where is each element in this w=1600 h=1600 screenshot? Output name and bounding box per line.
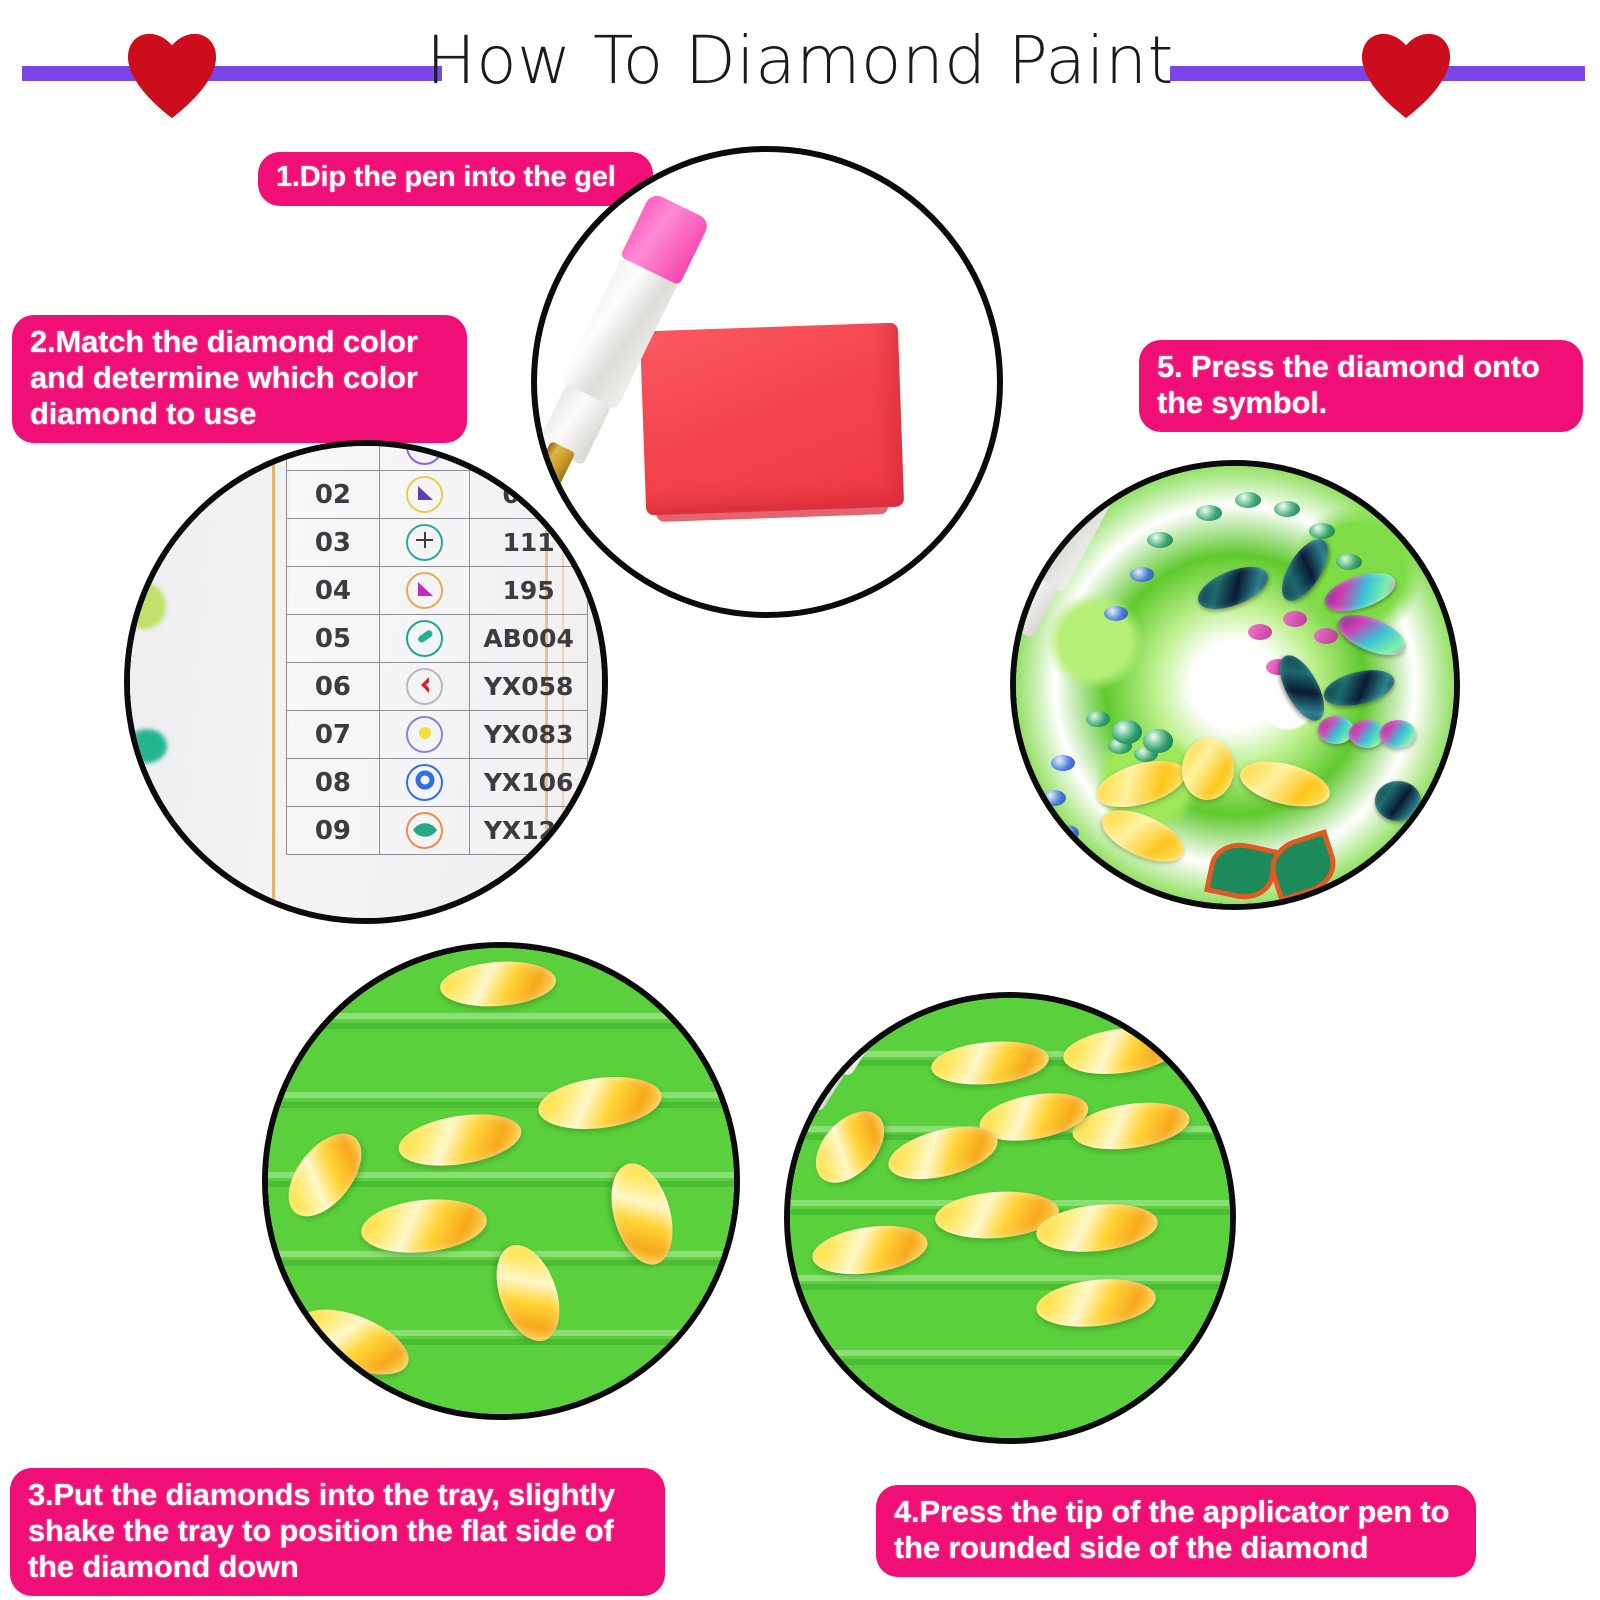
printed-symbol-dot [1104, 606, 1128, 621]
chart-row-number: 08 [286, 759, 379, 807]
chart-row-number: 03 [286, 519, 379, 567]
color-chart-photo: 02802093031110419505AB00406YX05807YX0830… [124, 440, 608, 924]
printed-symbol-dot [1051, 755, 1075, 771]
printed-symbol-dot [1147, 532, 1173, 548]
chart-row-code: YX083 [470, 711, 587, 759]
chart-row: 05AB004 [286, 615, 587, 663]
chart-row-symbol-icon [380, 471, 470, 519]
diamonds-in-tray-photo [262, 942, 740, 1420]
placed-diamond [1380, 720, 1416, 748]
chart-row-number: 06 [286, 663, 379, 711]
chart-row-symbol-icon [380, 519, 470, 567]
applicator-pen [848, 992, 901, 997]
step-4-label: 4.Press the tip of the applicator pen to… [876, 1485, 1476, 1577]
chart-row-code: 111 [470, 519, 587, 567]
chart-row-code: YX125 [470, 807, 587, 855]
chart-guide-line [272, 446, 275, 918]
chart-row-code: 195 [470, 567, 587, 615]
chart-row: 09YX125 [286, 807, 587, 855]
printed-symbol-dot [1336, 554, 1362, 570]
gel-pad [640, 322, 904, 515]
chart-row-symbol-icon [380, 567, 470, 615]
step-2-label: 2.Match the diamond color and determine … [12, 315, 467, 443]
chart-row-symbol-icon [380, 711, 470, 759]
color-chart-table: 02802093031110419505AB00406YX05807YX0830… [286, 440, 588, 855]
chart-row-symbol-icon [380, 663, 470, 711]
printed-symbol-dot [1130, 567, 1154, 582]
chart-row-number: 02 [286, 471, 379, 519]
chart-row-number: 07 [286, 711, 379, 759]
applicator-pen [626, 248, 682, 275]
chart-row-code: AB004 [470, 615, 587, 663]
chart-row-number: 05 [286, 615, 379, 663]
chart-row: 03111 [286, 519, 587, 567]
chart-row-code: YX058 [470, 663, 587, 711]
chart-row-symbol-icon [380, 759, 470, 807]
printed-symbol-dot [1283, 611, 1307, 627]
chart-row: 06YX058 [286, 663, 587, 711]
step-3-label: 3.Put the diamonds into the tray, slight… [10, 1468, 665, 1596]
chart-row-code: YX106 [470, 759, 587, 807]
printed-symbol-dot [1314, 628, 1338, 644]
chart-row-symbol-icon [380, 440, 470, 471]
chart-row-number: 09 [286, 807, 379, 855]
chart-row-code: 093 [470, 471, 587, 519]
chart-row: 08YX106 [286, 759, 587, 807]
chart-row-symbol-icon [380, 807, 470, 855]
chart-row: 07YX083 [286, 711, 587, 759]
canvas-print-blob [124, 583, 166, 629]
page-title: How To Diamond Paint [0, 22, 1600, 99]
chart-row-symbol-icon [380, 615, 470, 663]
chart-row: 02093 [286, 471, 587, 519]
printed-symbol-dot [1248, 624, 1272, 640]
placed-diamond [1143, 729, 1173, 753]
pressing-diamond-onto-canvas-photo [1010, 460, 1460, 910]
chart-row: 04195 [286, 567, 587, 615]
page-header: How To Diamond Paint [0, 0, 1600, 130]
step-5-label: 5. Press the diamond onto the symbol. [1139, 340, 1583, 432]
canvas-edge [130, 446, 290, 918]
canvas-print-blob [127, 729, 167, 763]
pen-picking-diamond-photo [784, 992, 1236, 1444]
chart-row-number: 04 [286, 567, 379, 615]
chart-row-number [286, 440, 379, 471]
